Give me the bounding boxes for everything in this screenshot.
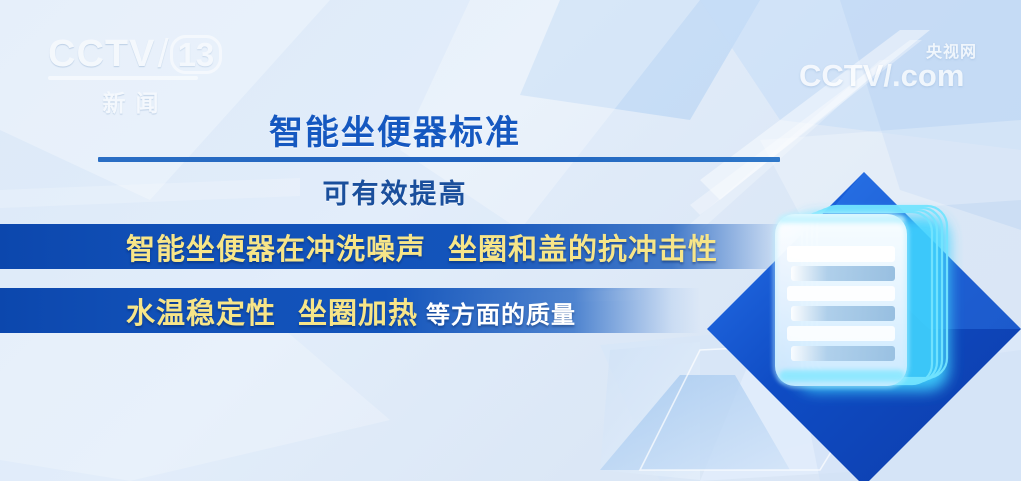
page-title: 智能坐便器标准 — [0, 112, 790, 154]
banner-1-highlight-2: 坐圈和盖的抗冲击性 — [448, 226, 718, 268]
highlight-banner-1: 智能坐便器在冲洗噪声 坐圈和盖的抗冲击性 — [0, 224, 800, 269]
cctv-com-slash: / — [883, 58, 892, 94]
cctv13-logo: CCTV / 13 新闻 — [48, 30, 223, 112]
cctv13-brand: CCTV — [48, 33, 155, 76]
cctv13-slash: / — [157, 32, 168, 77]
banner-2-highlight-2: 坐圈加热 — [298, 290, 418, 332]
banner-2-highlight-1: 水温稳定性 — [126, 290, 276, 332]
title-underline — [98, 157, 780, 162]
document-stack-icon — [699, 164, 1021, 481]
headline-block: 智能坐便器标准 — [0, 112, 790, 154]
broadcast-graphic-frame: CCTV / 13 新闻 央视网 CCTV / . com 智能坐便器标准 可有… — [0, 0, 1021, 481]
banner-2-plain-text: 等方面的质量 — [426, 295, 576, 330]
cctv-com-brand: CCTV — [799, 58, 883, 94]
cctv13-number: 13 — [170, 35, 223, 74]
cctv-com-dot: . — [892, 58, 901, 94]
highlight-banner-2: 水温稳定性 坐圈加热 等方面的质量 — [0, 288, 700, 333]
cctv-com-cn-text: 央视网 — [926, 38, 977, 62]
cctv-com-logo: 央视网 CCTV / . com — [799, 36, 979, 96]
banner-1-highlight-1: 智能坐便器在冲洗噪声 — [126, 226, 426, 268]
cctv13-bar — [48, 76, 198, 80]
cctv-com-suffix: com — [901, 58, 965, 94]
page-subtitle: 可有效提高 — [0, 172, 790, 211]
